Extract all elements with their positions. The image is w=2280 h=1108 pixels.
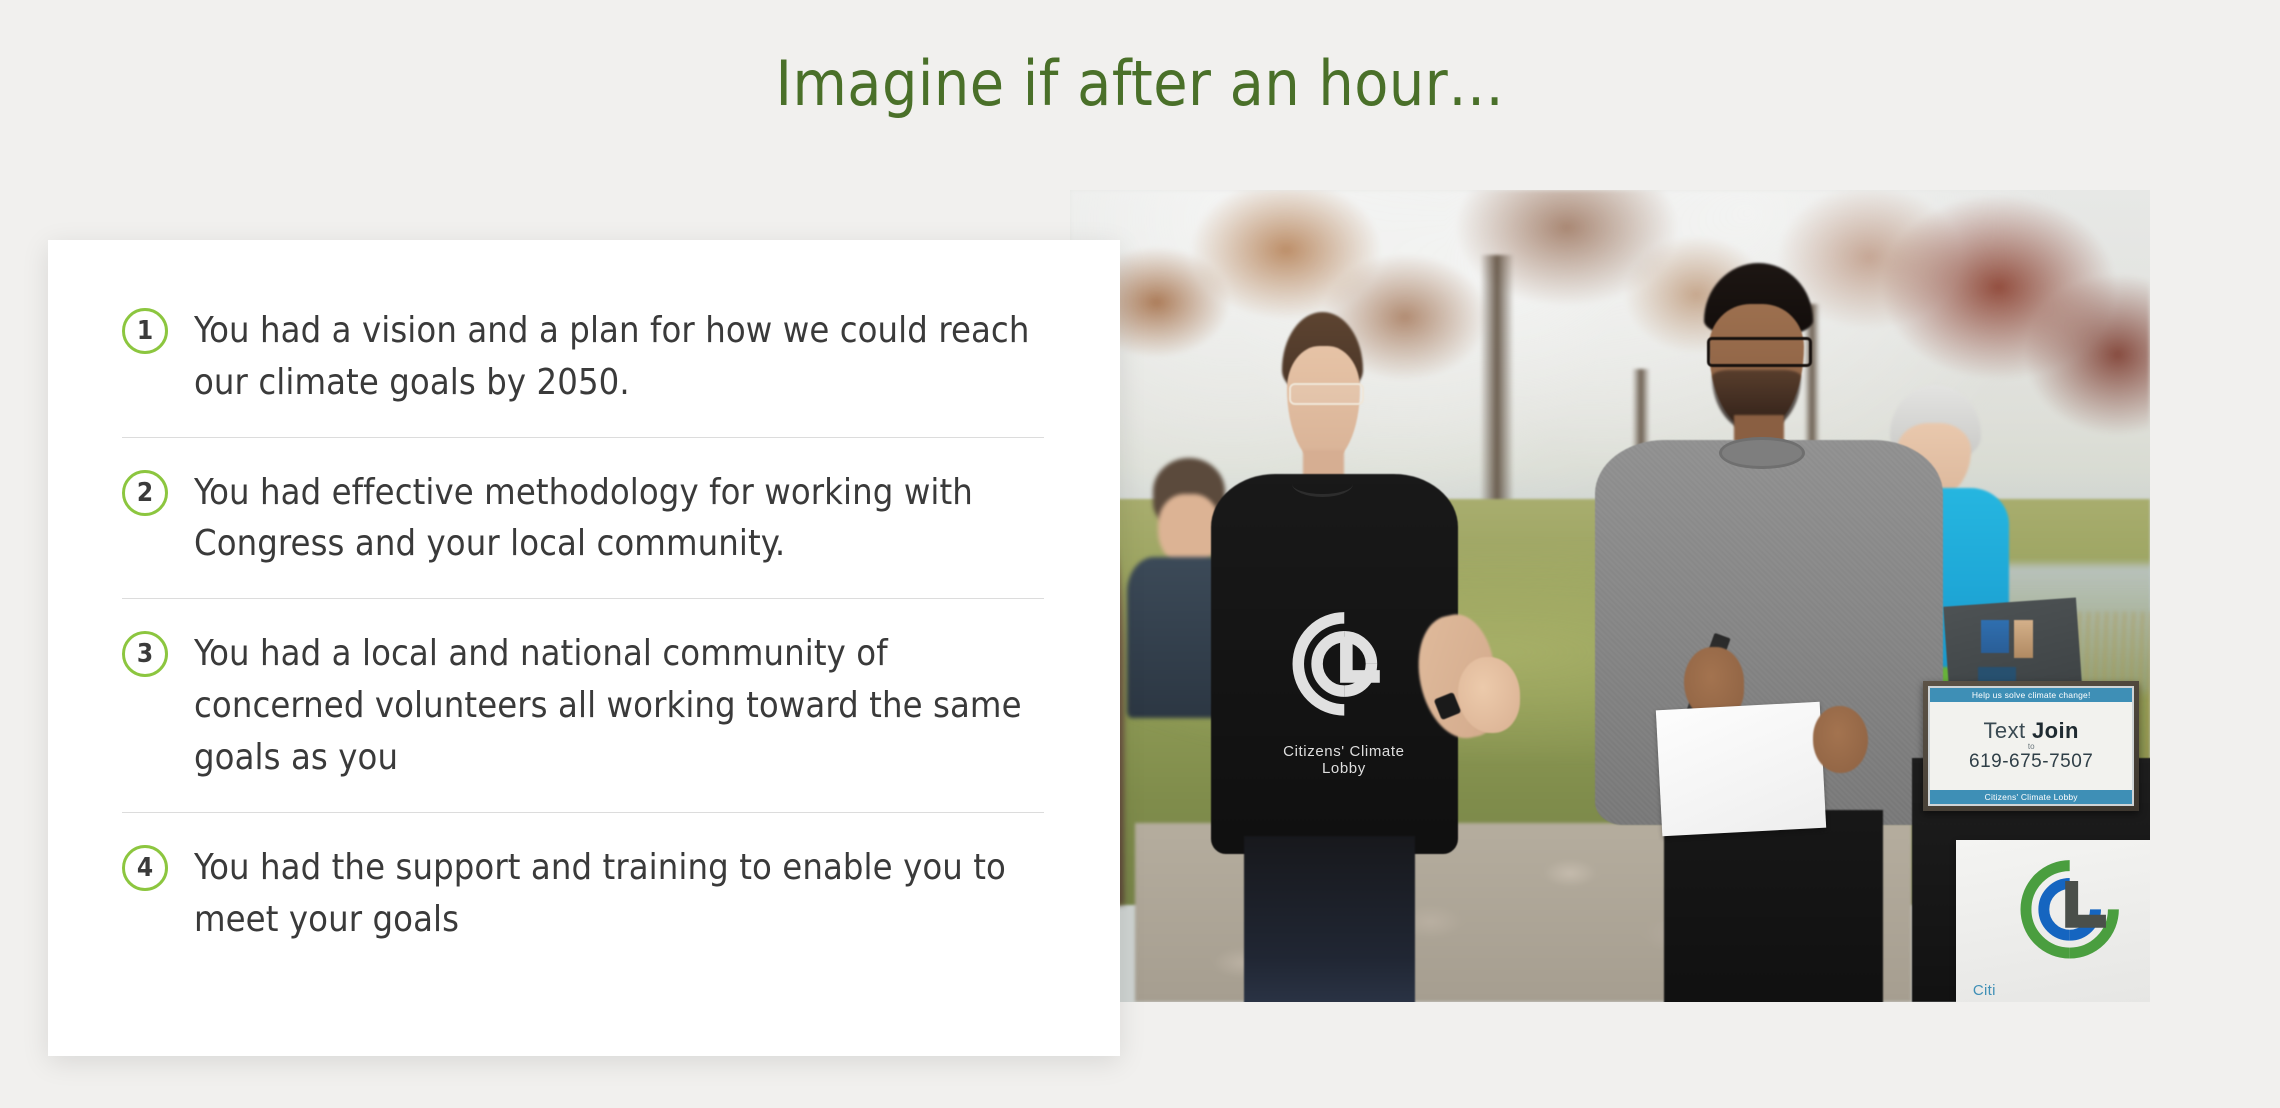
numbered-list-card: 1 You had a vision and a plan for how we… (48, 240, 1120, 1056)
ccl-logo-text: Citizens' Climate Lobby (1263, 743, 1425, 777)
list-item-text: You had effective methodology for workin… (194, 466, 1046, 571)
text-join-sign: Help us solve climate change! Text Join … (1923, 681, 2139, 811)
sign-main-prefix: Text (1984, 718, 2032, 743)
photo-left-pants (1244, 836, 1415, 1002)
numbered-list: 1 You had a vision and a plan for how we… (122, 302, 1046, 947)
page-title: Imagine if after an hour… (0, 48, 2280, 119)
list-item-number-badge: 4 (122, 845, 168, 891)
sign-main-line: Text Join (1984, 720, 2079, 742)
photo-left-hand (1458, 657, 1520, 733)
sign-main-bold: Join (2032, 718, 2079, 743)
photo-right-pants (1664, 810, 1883, 1002)
ccl-banner-logo-icon (2020, 859, 2119, 960)
list-item: 1 You had a vision and a plan for how we… (122, 302, 1046, 411)
list-item: 3 You had a local and national community… (122, 625, 1046, 785)
list-item-text: You had the support and training to enab… (194, 841, 1046, 946)
list-item-text: You had a vision and a plan for how we c… (194, 304, 1046, 409)
list-item-number-badge: 2 (122, 470, 168, 516)
photo-clipboard-paper (1656, 702, 1826, 836)
list-item: 2 You had effective methodology for work… (122, 464, 1046, 573)
ccl-logo-icon (1292, 588, 1397, 740)
list-divider (122, 437, 1044, 438)
photo-right-collar (1719, 437, 1804, 470)
sign-header: Help us solve climate change! (1930, 688, 2132, 702)
list-item-text: You had a local and national community o… (194, 627, 1046, 783)
photo-volunteer-left: Citizens' Climate Lobby (1135, 312, 1610, 1002)
photo-right-hand-lower (1813, 706, 1868, 773)
sign-phone-number: 619-675-7507 (1969, 752, 2093, 773)
list-item: 4 You had the support and training to en… (122, 839, 1046, 948)
list-divider (122, 812, 1044, 813)
ccl-banner-text: Citi (1973, 982, 2103, 999)
photo-left-face (1287, 346, 1361, 463)
ccl-banner: Citi (1956, 840, 2150, 1002)
glasses-icon (1289, 383, 1364, 405)
list-item-number-badge: 1 (122, 308, 168, 354)
glasses-icon (1707, 337, 1812, 367)
photo-left-collar (1292, 471, 1354, 497)
event-photo: 10 Citizens' Climate Lobby (1070, 190, 2150, 1002)
sign-footer: Citizens' Climate Lobby (1930, 790, 2132, 804)
list-divider (122, 598, 1044, 599)
list-item-number-badge: 3 (122, 631, 168, 677)
